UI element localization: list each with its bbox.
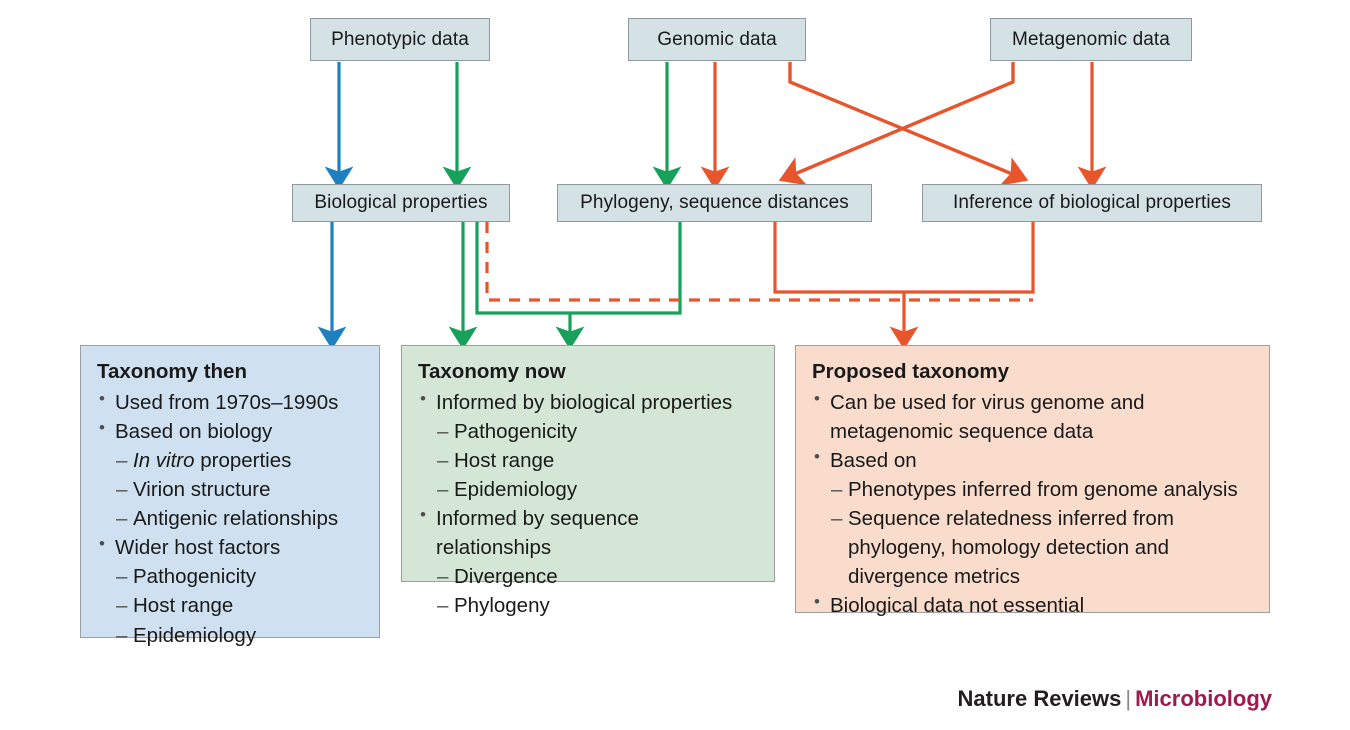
list-item: Pathogenicity (97, 562, 363, 591)
list-item: Wider host factors (97, 533, 363, 562)
journal-section: Microbiology (1135, 686, 1272, 711)
panel-list: Can be used for virus genome and metagen… (812, 388, 1253, 621)
list-item: Epidemiology (418, 475, 758, 504)
list-item: Epidemiology (97, 621, 363, 650)
list-item: Phylogeny (418, 591, 758, 620)
panel-title: Proposed taxonomy (812, 358, 1253, 386)
panel-proposed-taxonomy: Proposed taxonomy Can be used for virus … (795, 345, 1270, 613)
node-phenotypic-data[interactable]: Phenotypic data (310, 18, 490, 61)
list-item: Can be used for virus genome and metagen… (812, 388, 1253, 446)
node-phylogeny-sequence-distances[interactable]: Phylogeny, sequence distances (557, 184, 872, 222)
dashed-link-biological-to-proposed (487, 222, 1033, 300)
journal-name: Nature Reviews (958, 686, 1122, 711)
node-label: Genomic data (657, 29, 777, 51)
arrow-genomic-to-inference (790, 62, 1017, 176)
panel-list: Informed by biological properties Pathog… (418, 388, 758, 621)
list-item: Antigenic relationships (97, 504, 363, 533)
node-label: Phenotypic data (331, 29, 469, 51)
node-inference-of-biological-properties[interactable]: Inference of biological properties (922, 184, 1262, 222)
list-item: Host range (418, 446, 758, 475)
italic-term: In vitro (133, 449, 195, 472)
panel-taxonomy-then: Taxonomy then Used from 1970s–1990s Base… (80, 345, 380, 638)
figure-canvas: Phenotypic data Genomic data Metagenomic… (0, 0, 1350, 730)
list-item: Pathogenicity (418, 417, 758, 446)
node-metagenomic-data[interactable]: Metagenomic data (990, 18, 1192, 61)
list-item: Biological data not essential (812, 591, 1253, 620)
node-label: Biological properties (314, 192, 487, 214)
node-label: Phylogeny, sequence distances (580, 192, 849, 214)
node-genomic-data[interactable]: Genomic data (628, 18, 806, 61)
list-item: Informed by biological properties (418, 388, 758, 417)
list-item: Sequence relatedness inferred from phylo… (812, 504, 1253, 591)
node-label: Metagenomic data (1012, 29, 1170, 51)
panel-list: Used from 1970s–1990s Based on biology I… (97, 388, 363, 650)
node-biological-properties[interactable]: Biological properties (292, 184, 510, 222)
panel-title: Taxonomy now (418, 358, 758, 386)
panel-title: Taxonomy then (97, 358, 363, 386)
footer-separator: | (1121, 686, 1135, 711)
list-item: Informed by sequence relationships (418, 504, 758, 562)
list-item: In vitro properties (97, 446, 363, 475)
list-item: Virion structure (97, 475, 363, 504)
panel-taxonomy-now: Taxonomy now Informed by biological prop… (401, 345, 775, 582)
list-item: Divergence (418, 562, 758, 591)
list-item: Host range (97, 591, 363, 620)
list-item: Based on biology (97, 417, 363, 446)
arrow-orange-bracket-to-proposed (775, 222, 1033, 292)
list-item: Used from 1970s–1990s (97, 388, 363, 417)
list-item: Phenotypes inferred from genome analysis (812, 475, 1253, 504)
list-item-rest: properties (195, 449, 292, 472)
journal-footer: Nature Reviews|Microbiology (958, 686, 1272, 712)
list-item: Based on (812, 446, 1253, 475)
node-label: Inference of biological properties (953, 192, 1231, 214)
